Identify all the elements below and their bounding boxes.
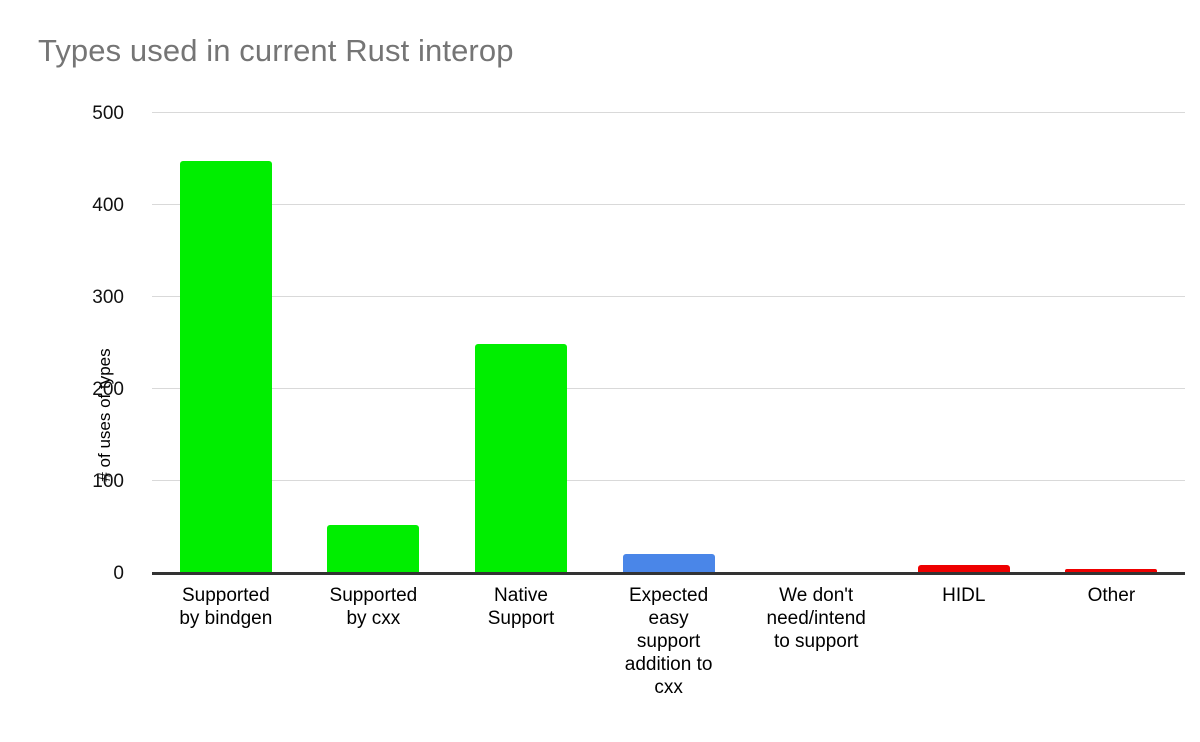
plot-area bbox=[152, 112, 1185, 572]
y-tick-label-200: 200 bbox=[64, 380, 124, 399]
x-label-hidl: HIDL bbox=[890, 584, 1038, 607]
bar-expected-easy-support-addition-to-cxx[interactable] bbox=[623, 554, 715, 572]
x-label-native-support: Native Support bbox=[447, 584, 595, 630]
y-axis-title: # of uses of types bbox=[95, 300, 115, 530]
y-tick-label-400: 400 bbox=[64, 196, 124, 215]
x-label-expected-easy-support-addition-to-cxx: Expected easy support addition to cxx bbox=[595, 584, 743, 699]
chart-title: Types used in current Rust interop bbox=[38, 33, 514, 69]
y-tick-label-300: 300 bbox=[64, 288, 124, 307]
bar-slot-0 bbox=[152, 112, 300, 572]
bar-chart: Types used in current Rust interop # of … bbox=[0, 0, 1200, 742]
y-tick-label-0: 0 bbox=[64, 564, 124, 583]
bar-hidl[interactable] bbox=[918, 565, 1010, 572]
bar-slot-2 bbox=[447, 112, 595, 572]
bar-slot-5 bbox=[890, 112, 1038, 572]
bar-supported-by-bindgen[interactable] bbox=[180, 161, 272, 572]
bar-supported-by-cxx[interactable] bbox=[327, 525, 419, 572]
bar-slot-1 bbox=[300, 112, 448, 572]
bar-native-support[interactable] bbox=[475, 344, 567, 572]
x-axis-line bbox=[152, 572, 1185, 575]
y-tick-label-500: 500 bbox=[64, 104, 124, 123]
x-label-other: Other bbox=[1038, 584, 1186, 607]
x-label-we-dont-need-intend-to-support: We don't need/intend to support bbox=[742, 584, 890, 653]
x-label-supported-by-cxx: Supported by cxx bbox=[300, 584, 448, 630]
bar-slot-4 bbox=[742, 112, 890, 572]
bar-slot-3 bbox=[595, 112, 743, 572]
y-tick-label-100: 100 bbox=[64, 472, 124, 491]
bar-slot-6 bbox=[1038, 112, 1186, 572]
x-label-supported-by-bindgen: Supported by bindgen bbox=[152, 584, 300, 630]
